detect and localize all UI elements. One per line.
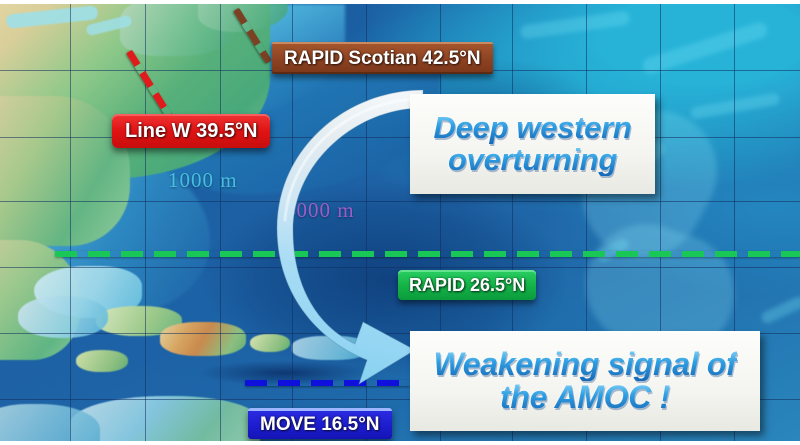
callout-line-1: Weakening signal of [433, 348, 736, 381]
label-rapid-26-5[interactable]: RAPID 26.5°N [398, 270, 536, 300]
depth-contour-1000m-label: 1000 m [168, 168, 238, 193]
frame-top-edge [0, 0, 800, 4]
label-rapid-scotian[interactable]: RAPID Scotian 42.5°N [272, 42, 493, 74]
callout-line-2: overturning [448, 144, 617, 176]
callout-deep-western-overturning: Deep western overturning [410, 94, 655, 194]
label-move-16-5[interactable]: MOVE 16.5°N [248, 408, 392, 439]
bahamas-bank-west [18, 296, 108, 338]
callout-line-2: the AMOC ! [500, 381, 670, 414]
figure-root: 1000 m 4000 m [0, 0, 800, 445]
callout-line-1: Deep western [434, 112, 632, 144]
overturning-circulation-arrow [255, 84, 435, 384]
frame-bottom-edge [0, 441, 800, 445]
bathymetry-map: 1000 m 4000 m [0, 4, 800, 441]
land-hispaniola [160, 322, 246, 356]
land-jamaica [76, 350, 128, 372]
callout-weakening-amoc: Weakening signal of the AMOC ! [410, 331, 760, 431]
label-line-w[interactable]: Line W 39.5°N [112, 114, 270, 148]
